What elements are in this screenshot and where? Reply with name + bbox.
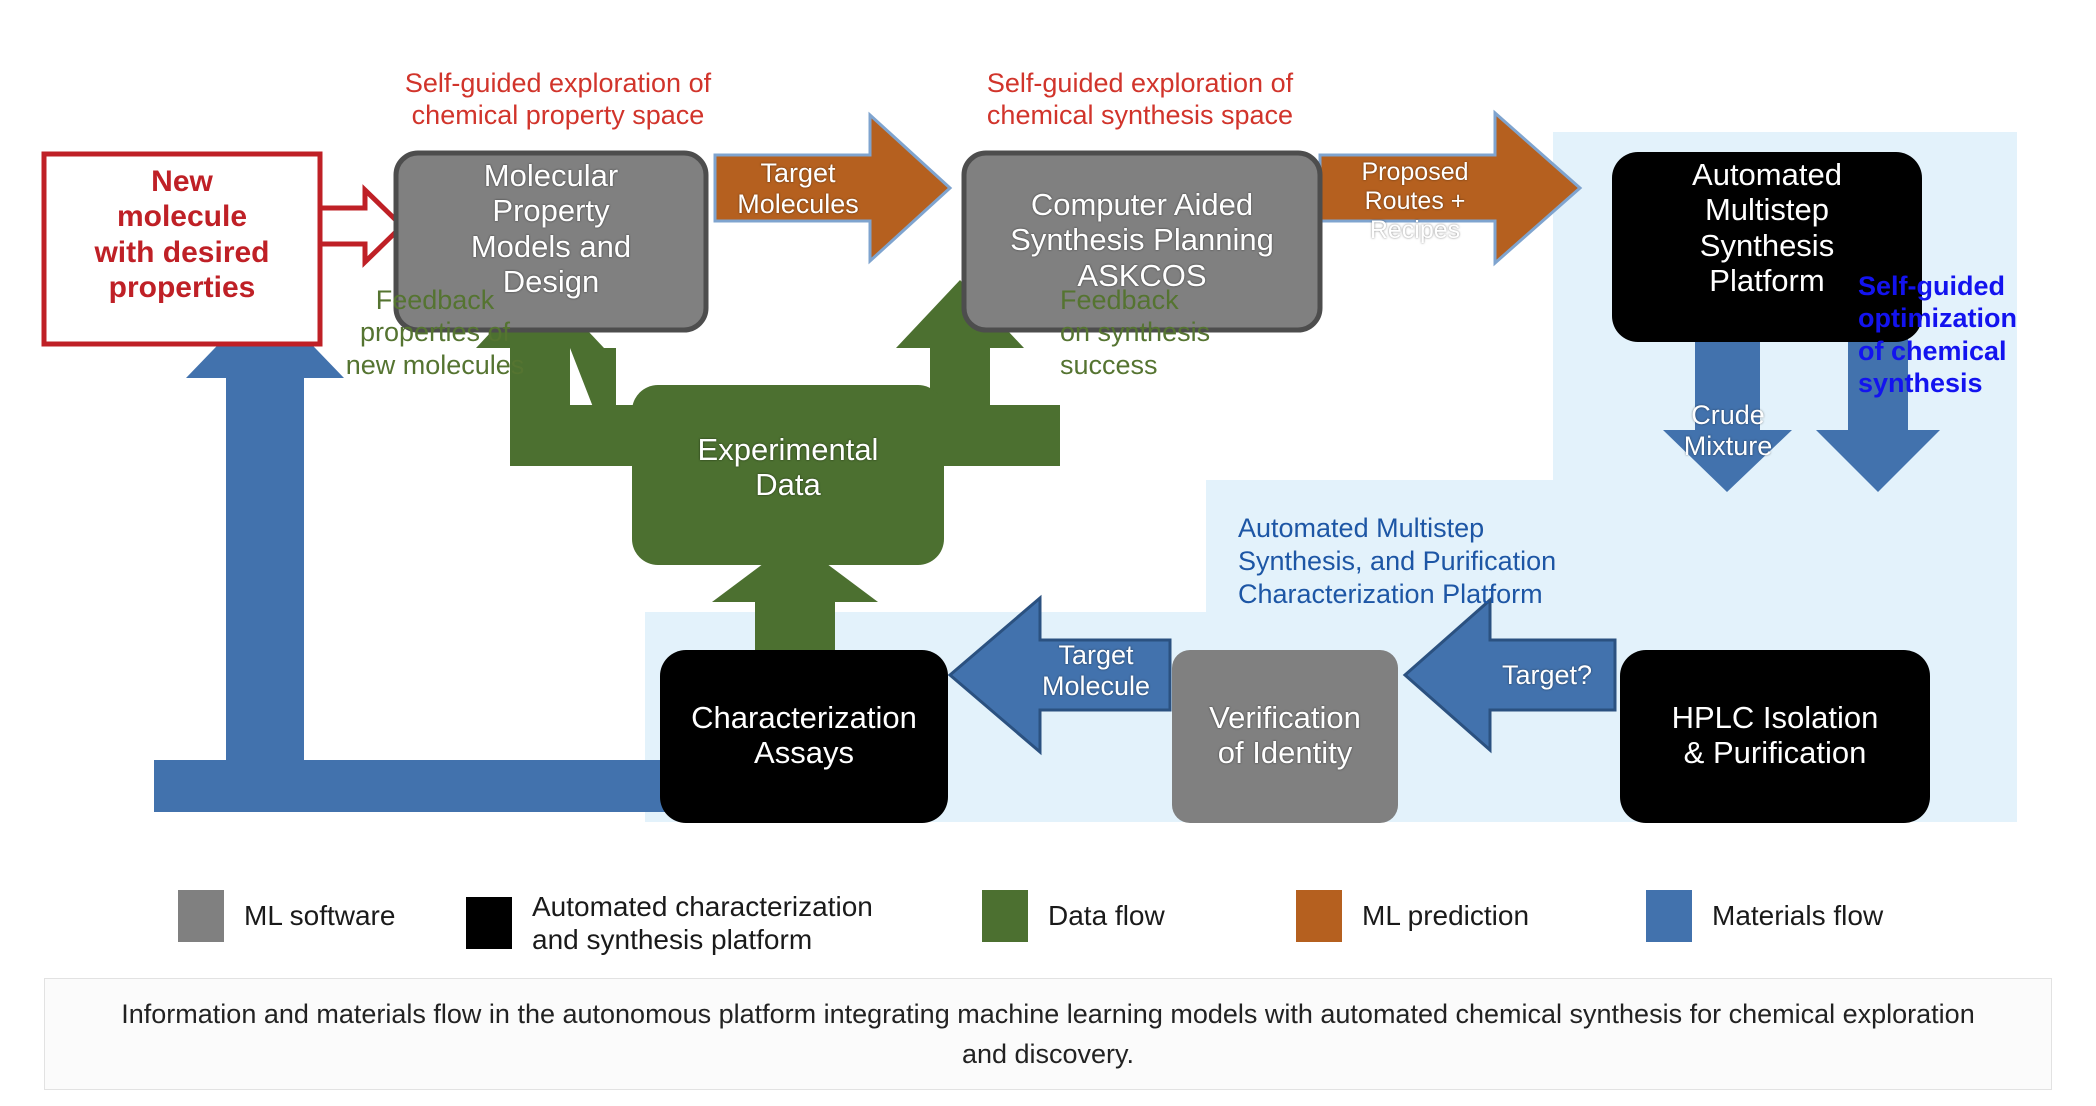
legend-swatch-data-flow bbox=[982, 890, 1028, 942]
annotation-feedback-properties: Feedback properties of new molecules bbox=[320, 284, 550, 381]
arrow-label-target-molecule: Target Molecule bbox=[1016, 640, 1176, 703]
legend-label-ml-software: ML software bbox=[244, 899, 395, 932]
diagram-canvas bbox=[0, 0, 2096, 960]
figure-caption-box: Information and materials flow in the au… bbox=[44, 978, 2052, 1090]
node-label-experimental-data: Experimental Data bbox=[632, 432, 944, 503]
annotation-feedback-synthesis: Feedback on synthesis success bbox=[1060, 284, 1300, 381]
legend-swatch-ml-software bbox=[178, 890, 224, 942]
legend: ML software Automated characterization a… bbox=[0, 880, 2096, 958]
legend-label-ml-prediction: ML prediction bbox=[1362, 899, 1529, 932]
node-label-characterization-assays: Characterization Assays bbox=[650, 700, 958, 771]
legend-item-ml-software: ML software bbox=[178, 890, 395, 942]
arrow-label-crude-mixture: Crude Mixture bbox=[1660, 400, 1796, 463]
node-label-verification: Verification of Identity bbox=[1172, 700, 1398, 771]
legend-item-ml-prediction: ML prediction bbox=[1296, 890, 1529, 942]
arrow-new-molecule-to-models bbox=[318, 190, 402, 262]
legend-swatch-automated-platform bbox=[466, 897, 512, 949]
legend-label-materials-flow: Materials flow bbox=[1712, 899, 1883, 932]
legend-swatch-ml-prediction bbox=[1296, 890, 1342, 942]
arrow-materials-return-vertical bbox=[226, 360, 304, 812]
annotation-synthesis-space: Self-guided exploration of chemical synt… bbox=[930, 68, 1350, 132]
figure-caption: Information and materials flow in the au… bbox=[103, 994, 1993, 1075]
node-label-askcos: Computer Aided Synthesis Planning ASKCOS bbox=[964, 187, 1320, 293]
legend-label-automated-platform: Automated characterization and synthesis… bbox=[532, 890, 873, 956]
legend-swatch-materials-flow bbox=[1646, 890, 1692, 942]
legend-item-materials-flow: Materials flow bbox=[1646, 890, 1883, 942]
arrow-label-target-molecules: Target Molecules bbox=[718, 158, 878, 221]
legend-item-automated-platform: Automated characterization and synthesis… bbox=[466, 890, 873, 956]
arrow-label-proposed-routes: Proposed Routes + Recipes bbox=[1320, 158, 1510, 245]
flow-diagram: Self-guided exploration of chemical prop… bbox=[0, 0, 2096, 960]
node-label-new-molecule: New molecule with desired properties bbox=[44, 164, 320, 306]
node-label-molecular-property-models: Molecular Property Models and Design bbox=[396, 158, 706, 299]
annotation-platform-region: Automated Multistep Synthesis, and Purif… bbox=[1238, 512, 1678, 611]
arrow-label-target-question: Target? bbox=[1472, 660, 1622, 691]
legend-item-data-flow: Data flow bbox=[982, 890, 1165, 942]
annotation-property-space: Self-guided exploration of chemical prop… bbox=[348, 68, 768, 132]
annotation-self-guided-optimization: Self-guided optimization of chemical syn… bbox=[1858, 270, 2068, 400]
legend-label-data-flow: Data flow bbox=[1048, 899, 1165, 932]
node-label-hplc: HPLC Isolation & Purification bbox=[1620, 700, 1930, 771]
figure-root: Self-guided exploration of chemical prop… bbox=[0, 0, 2096, 1106]
